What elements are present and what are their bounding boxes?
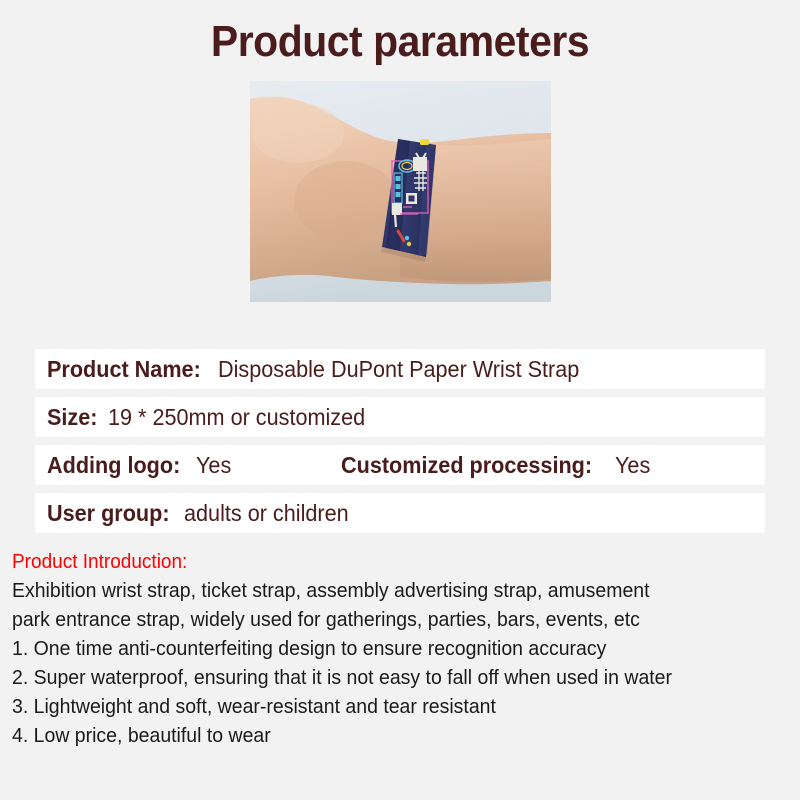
product-introduction: Product Introduction: Exhibition wrist s… [0,548,800,750]
spec-value: 19 * 250mm or customized [108,397,365,437]
table-row: Adding logo: Yes Customized processing: … [35,445,765,485]
introduction-line: 2. Super waterproof, ensuring that it is… [12,663,749,692]
spec-key: Product Name: [47,349,201,389]
page-title: Product parameters [28,0,772,64]
introduction-line: park entrance strap, widely used for gat… [12,605,749,634]
wristband-photo-illustration [250,81,551,302]
introduction-line: 4. Low price, beautiful to wear [12,721,749,750]
introduction-line: 1. One time anti-counterfeiting design t… [12,634,749,663]
spec-cell: User group: adults or children [47,493,360,533]
spec-value: adults or children [184,493,349,533]
spec-value: Yes [196,445,231,485]
spec-table: Product Name: Disposable DuPont Paper Wr… [0,349,800,533]
introduction-heading: Product Introduction: [12,548,749,576]
spec-cell: Customized processing: Yes [341,445,653,485]
spec-key: Customized processing: [341,445,592,485]
spec-cell: Product Name: Disposable DuPont Paper Wr… [47,349,602,389]
spec-key: Adding logo: [47,445,180,485]
spec-value: Yes [615,445,650,485]
spec-key: User group: [47,493,170,533]
table-row: Product Name: Disposable DuPont Paper Wr… [35,349,765,389]
introduction-line: 3. Lightweight and soft, wear-resistant … [12,692,749,721]
product-image [250,81,551,302]
introduction-line: Exhibition wrist strap, ticket strap, as… [12,576,749,605]
spec-value: Disposable DuPont Paper Wrist Strap [218,349,579,389]
spec-key: Size: [47,397,97,437]
spec-cell: Adding logo: Yes [47,445,233,485]
spec-cell: Size: 19 * 250mm or customized [47,397,381,437]
table-row: User group: adults or children [35,493,765,533]
table-row: Size: 19 * 250mm or customized [35,397,765,437]
